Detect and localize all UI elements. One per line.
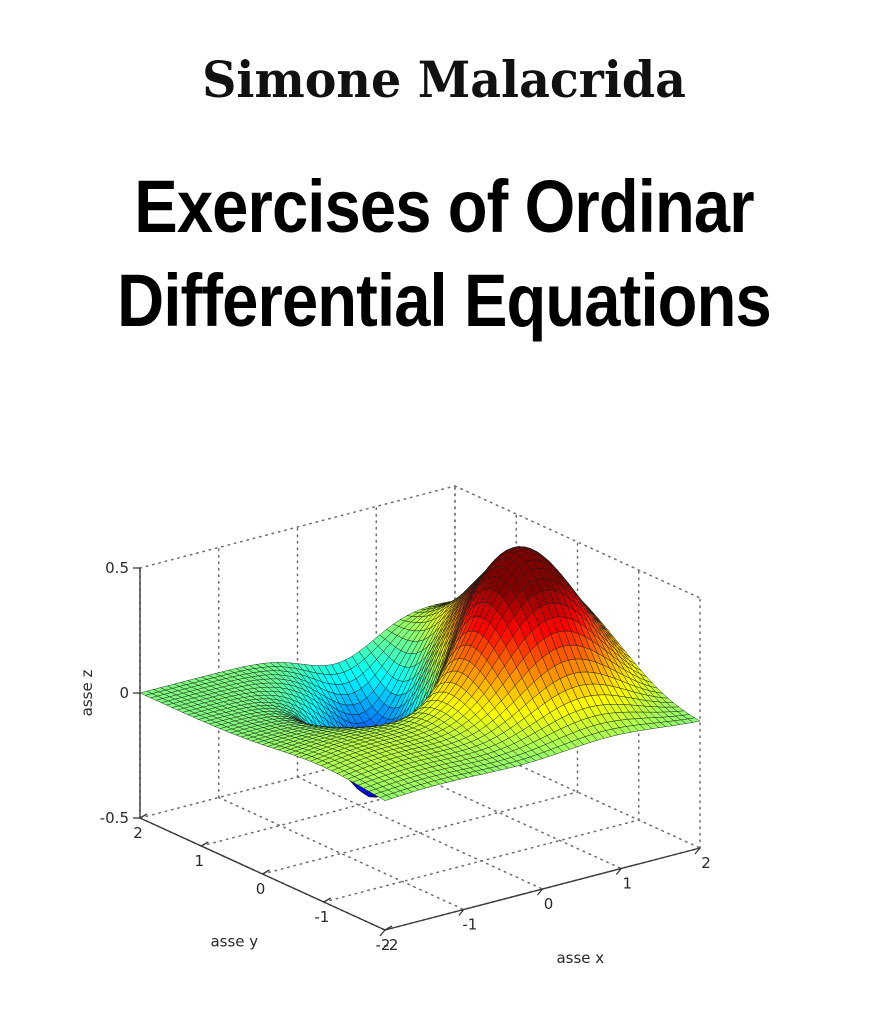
plot-text: 1 bbox=[195, 852, 205, 870]
plot-text: -2 bbox=[384, 936, 399, 954]
plot-text: 0.5 bbox=[105, 559, 129, 577]
surface-plot: -0.500.5210-1-2-2-1012asse yasse xasse z bbox=[60, 470, 840, 1000]
plot-text: -1 bbox=[314, 908, 329, 926]
plot-text: 0 bbox=[544, 895, 554, 913]
book-title: Exercises of Ordinar Differential Equati… bbox=[0, 160, 888, 348]
x-axis-label: asse x bbox=[556, 949, 604, 967]
title-line-2: Differential Equations bbox=[53, 254, 834, 348]
plot-text: 0 bbox=[119, 684, 129, 702]
plot-surface bbox=[140, 547, 700, 801]
plot-text: 1 bbox=[623, 875, 633, 893]
book-cover: Simone Malacrida Exercises of Ordinar Di… bbox=[0, 0, 888, 1020]
plot-text: -0.5 bbox=[100, 809, 129, 827]
surface-plot-svg: -0.500.5210-1-2-2-1012asse yasse xasse z bbox=[60, 470, 840, 1000]
title-line-1: Exercises of Ordinar bbox=[53, 160, 834, 254]
plot-text: -1 bbox=[462, 916, 477, 934]
y-axis-label: asse y bbox=[210, 932, 258, 950]
plot-text: 2 bbox=[701, 854, 711, 872]
author-name: Simone Malacrida bbox=[22, 50, 866, 109]
plot-text: 0 bbox=[256, 880, 266, 898]
z-axis-label: asse z bbox=[78, 670, 96, 717]
plot-text: 2 bbox=[133, 824, 143, 842]
